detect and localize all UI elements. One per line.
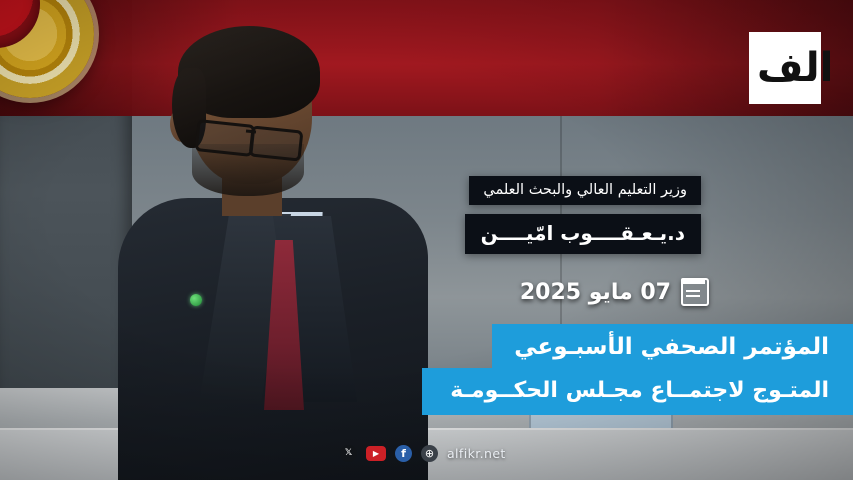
headline-line-1: المؤتمر الصحفي الأسبـوعي xyxy=(492,324,853,370)
x-twitter-icon[interactable]: 𝕏 xyxy=(340,445,357,462)
subject-figure xyxy=(118,26,428,480)
emblem-inner-disc: ★ xyxy=(0,0,40,48)
channel-logo: الف xyxy=(749,32,821,104)
website-url[interactable]: alfikr.net xyxy=(447,446,506,461)
news-graphic-canvas: ★ الف وزير التعليم العالي والبحث العلمي … xyxy=(0,0,853,480)
lapel-pin xyxy=(190,294,202,306)
facebook-icon[interactable]: f xyxy=(395,445,412,462)
eyeglasses-left-lens xyxy=(194,119,255,157)
website-globe-icon[interactable]: ⊕ xyxy=(421,445,438,462)
logo-mark: الف xyxy=(757,40,813,96)
headline-line-2: المتـوج لاجتمــاع مجـلس الحكــومـة xyxy=(422,368,853,415)
minister-role-tag: وزير التعليم العالي والبحث العلمي xyxy=(469,176,701,205)
date-row: 07 مايو 2025 xyxy=(520,278,709,306)
eyeglasses-right-lens xyxy=(249,125,304,161)
date-text: 07 مايو 2025 xyxy=(520,280,671,305)
youtube-icon[interactable]: ▶ xyxy=(366,446,386,461)
social-bar: 𝕏 ▶ f ⊕ alfikr.net xyxy=(340,445,506,462)
minister-name-tag: د.يـعـقــــوب امّيــــن xyxy=(465,214,701,254)
calendar-icon xyxy=(681,278,709,306)
logo-glyph: الف xyxy=(757,40,813,96)
emblem-star-icon: ★ xyxy=(0,0,8,26)
